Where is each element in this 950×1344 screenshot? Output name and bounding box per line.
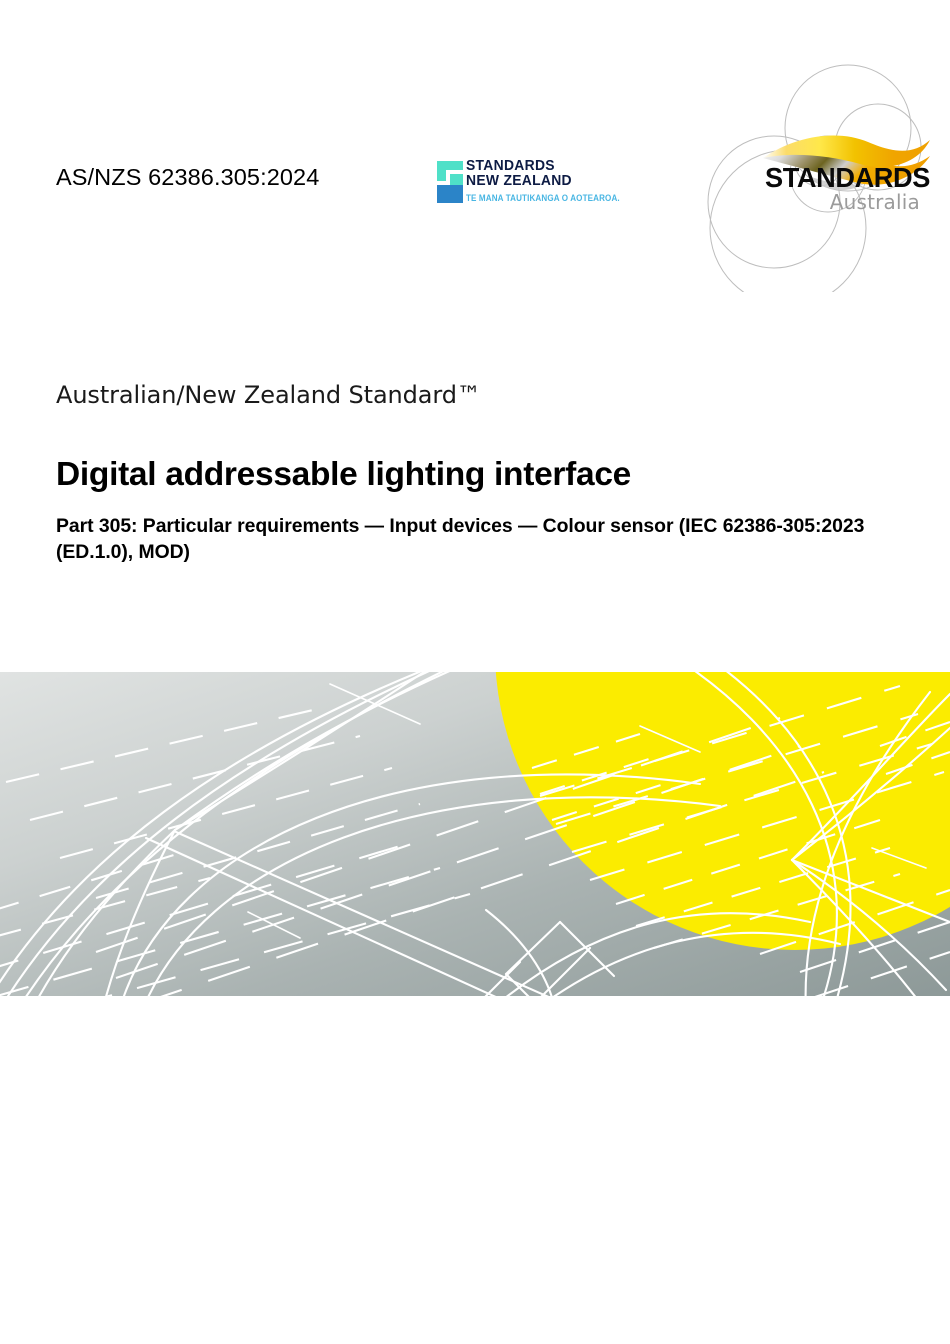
standards-australia-logo: STANDARDS Australia	[668, 52, 950, 292]
standards-australia-word-sub: Australia	[668, 191, 930, 213]
standards-australia-wordmark: STANDARDS Australia	[668, 164, 930, 213]
page-title: Digital addressable lighting interface	[56, 456, 896, 494]
standards-australia-word-main: STANDARDS	[676, 164, 930, 192]
page-subtitle: Part 305: Particular requirements — Inpu…	[56, 513, 892, 565]
page-header: AS/NZS 62386.305:2024 STANDARDS NEW ZEAL…	[0, 0, 950, 300]
title-block: Australian/New Zealand Standard™ Digital…	[56, 380, 896, 565]
standards-nz-line-2: NEW ZEALAND	[466, 174, 607, 189]
standards-new-zealand-logo: STANDARDS NEW ZEALAND TE MANA TAUTIKANGA…	[437, 160, 617, 208]
document-number: AS/NZS 62386.305:2024	[56, 164, 319, 191]
standards-nz-wordmark: STANDARDS NEW ZEALAND TE MANA TAUTIKANGA…	[466, 159, 616, 203]
page-bottom-whitespace	[0, 996, 950, 1344]
standards-nz-tagline: TE MANA TAUTIKANGA O AOTEAROA.	[466, 192, 595, 203]
standards-nz-line-1: STANDARDS	[466, 159, 607, 174]
standard-kind-label: Australian/New Zealand Standard™	[56, 380, 896, 410]
banner-artwork	[0, 672, 950, 996]
standards-nz-mark-icon	[437, 161, 463, 207]
decorative-geometry-banner	[0, 672, 950, 996]
